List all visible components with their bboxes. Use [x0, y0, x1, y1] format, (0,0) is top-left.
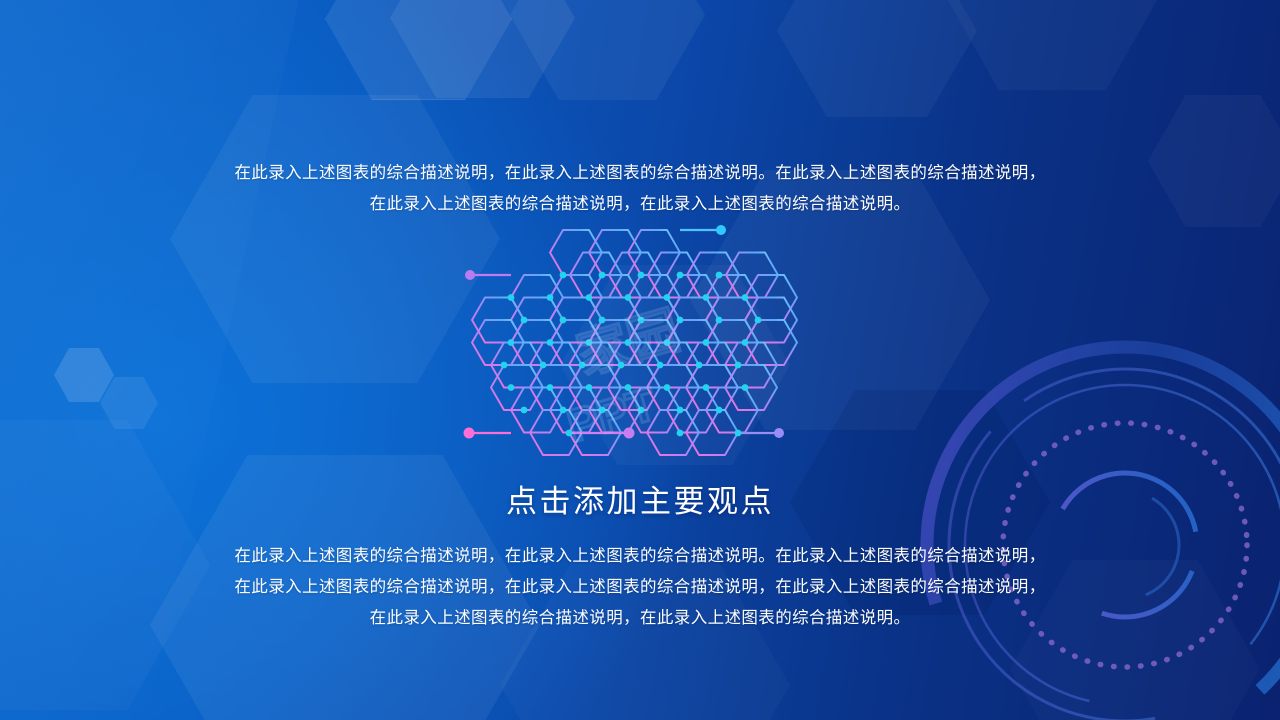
page-title: 点击添加主要观点: [0, 482, 1280, 522]
top-paragraph-line-1: 在此录入上述图表的综合描述说明，在此录入上述图表的综合描述说明。在此录入上述图表…: [0, 158, 1280, 189]
bottom-paragraph-line-1: 在此录入上述图表的综合描述说明，在此录入上述图表的综合描述说明。在此录入上述图表…: [0, 541, 1280, 572]
bg-hexagon: [170, 95, 500, 383]
bottom-description-paragraph: 在此录入上述图表的综合描述说明，在此录入上述图表的综合描述说明。在此录入上述图表…: [0, 541, 1280, 634]
circular-tech-decor: [910, 330, 1280, 720]
bottom-paragraph-line-2: 在此录入上述图表的综合描述说明，在此录入上述图表的综合描述说明，在此录入上述图表…: [0, 572, 1280, 603]
top-paragraph-line-2: 在此录入上述图表的综合描述说明，在此录入上述图表的综合描述说明。: [0, 189, 1280, 220]
honeycomb-network-graphic: [455, 222, 800, 477]
bg-hexagon: [945, 0, 1160, 90]
top-description-paragraph: 在此录入上述图表的综合描述说明，在此录入上述图表的综合描述说明。在此录入上述图表…: [0, 158, 1280, 220]
bg-hexagon: [510, 0, 705, 100]
slide-canvas: 在此录入上述图表的综合描述说明，在此录入上述图表的综合描述说明。在此录入上述图表…: [0, 0, 1280, 720]
bottom-paragraph-line-3: 在此录入上述图表的综合描述说明，在此录入上述图表的综合描述说明。: [0, 603, 1280, 634]
bg-hexagon-small: [100, 377, 158, 429]
bg-hexagon-small: [54, 348, 114, 402]
bg-hexagon: [390, 0, 575, 98]
bg-hexagon: [777, 0, 977, 117]
bg-hexagon: [325, 0, 512, 100]
network-nodes: [501, 272, 762, 437]
